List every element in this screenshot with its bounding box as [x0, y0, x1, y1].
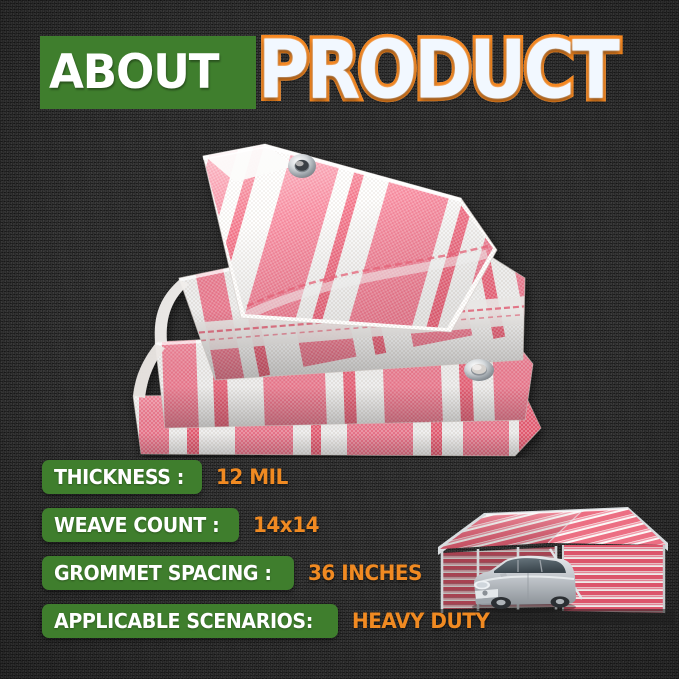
spec-value-thickness: 12 MIL: [216, 467, 288, 488]
spec-value-applicable-scenarios: HEAVY DUTY: [352, 611, 489, 632]
spec-label-weave-count: WEAVE COUNT :: [54, 515, 219, 535]
header-title-about: ABOUT: [49, 39, 246, 105]
spec-badge-thickness: THICKNESS :: [42, 460, 202, 494]
spec-row-thickness: THICKNESS : 12 MIL: [42, 459, 642, 495]
spec-label-grommet-spacing: GROMMET SPACING :: [54, 563, 272, 583]
tarp-folds: [125, 128, 565, 458]
tarp-illustration: [95, 128, 565, 458]
spec-badge-weave-count: WEAVE COUNT :: [42, 508, 239, 542]
header-banner: ABOUT PRODUCT: [0, 0, 679, 128]
spec-row-applicable-scenarios: APPLICABLE SCENARIOS: HEAVY DUTY: [42, 603, 642, 639]
spec-badge-applicable-scenarios: APPLICABLE SCENARIOS:: [42, 604, 338, 638]
spec-row-grommet-spacing: GROMMET SPACING : 36 INCHES: [42, 555, 642, 591]
infographic-canvas: ABOUT PRODUCT: [0, 0, 679, 679]
spec-row-weave-count: WEAVE COUNT : 14x14: [42, 507, 642, 543]
product-photo-tarp: [95, 128, 565, 458]
grommet-icon-upper: [288, 154, 316, 178]
spec-label-thickness: THICKNESS :: [54, 467, 184, 487]
grommet-icon-lower: [464, 359, 494, 381]
header-title-product-text: PRODUCT: [258, 30, 617, 111]
header-title-product: PRODUCT: [258, 21, 617, 119]
spec-value-weave-count: 14x14: [253, 515, 319, 536]
specification-list: THICKNESS : 12 MIL WEAVE COUNT : 14x14 G…: [42, 459, 642, 651]
spec-label-applicable-scenarios: APPLICABLE SCENARIOS:: [54, 611, 313, 631]
spec-badge-grommet-spacing: GROMMET SPACING :: [42, 556, 294, 590]
spec-value-grommet-spacing: 36 INCHES: [308, 563, 422, 584]
